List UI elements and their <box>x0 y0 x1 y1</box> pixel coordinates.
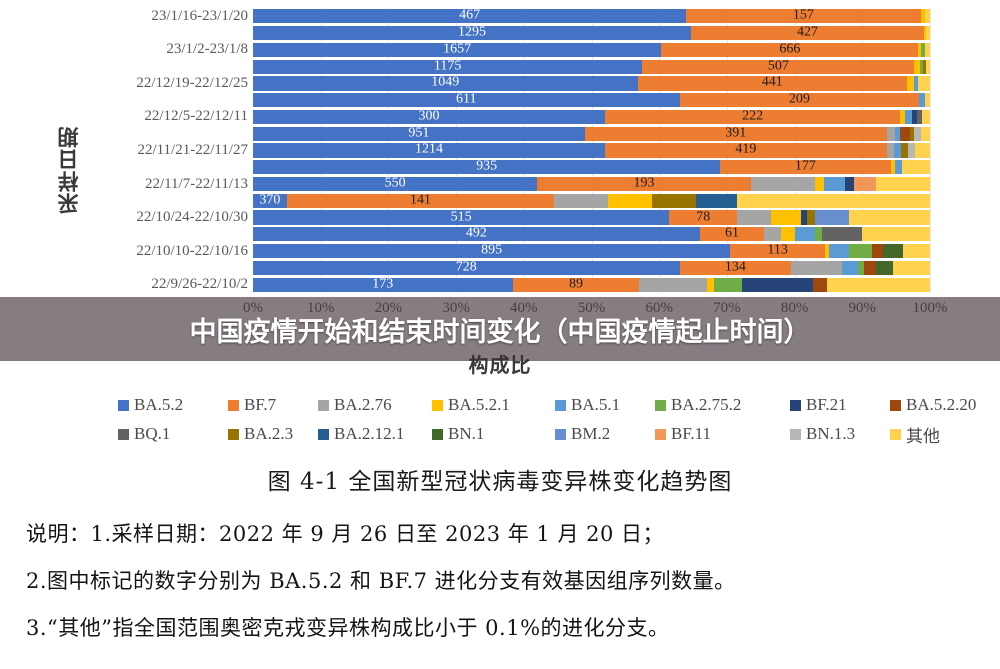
bar-segment-BF-7: 193 <box>537 177 750 191</box>
bar-segment-BA-5-2-1 <box>707 278 714 292</box>
bar-segment-BF-7: 177 <box>720 160 891 174</box>
stacked-bar-row: 370141 <box>253 194 930 208</box>
legend-swatch-icon <box>890 429 901 440</box>
bar-segment-BA-2-76 <box>887 127 896 141</box>
legend-item-BM-2[interactable]: BM.2 <box>555 421 610 447</box>
bar-segment-BA-5-2-20 <box>900 127 911 141</box>
bar-value-label: 666 <box>779 43 800 57</box>
bar-segment-BF-7: 134 <box>680 261 792 275</box>
bar-value-label: 419 <box>735 143 756 157</box>
bar-segment-BF-7: 391 <box>585 127 887 141</box>
category-label: 22/12/5-22/12/11 <box>144 108 248 125</box>
bar-value-label: 89 <box>569 277 583 291</box>
bar-value-label: 1049 <box>431 76 459 90</box>
legend-row: BA.5.2BF.7BA.2.76BA.5.2.1BA.5.1BA.2.75.2… <box>0 392 1000 418</box>
legend-item-BA-5-2-20[interactable]: BA.5.2.20 <box>890 392 976 418</box>
bar-segment-BA-5-2: 611 <box>253 93 680 107</box>
bar-value-label: 370 <box>259 194 280 208</box>
bar-segment-BA-5-2-20 <box>864 261 876 275</box>
category-label: 23/1/2-23/1/8 <box>166 41 248 58</box>
bar-value-label: 141 <box>410 194 431 208</box>
bar-segment-BA-2-75-2 <box>815 227 822 241</box>
bar-segment-其他 <box>921 127 930 141</box>
legend-item-BA-2-76[interactable]: BA.2.76 <box>318 392 392 418</box>
bar-segment-其他 <box>926 60 930 74</box>
bar-segment-BF-7: 427 <box>691 26 924 40</box>
legend-swatch-icon <box>228 429 239 440</box>
legend-swatch-icon <box>318 400 329 411</box>
bar-segment-BA-2-76 <box>887 143 894 157</box>
bar-segment-BA-5-2: 173 <box>253 278 513 292</box>
figure-note-2: 2.图中标记的数字分别为 BA.5.2 和 BF.7 进化分支有效基因组序列数量… <box>26 565 976 595</box>
figure-note-1: 说明：1.采样日期：2022 年 9 月 26 日至 2023 年 1 月 20… <box>26 518 976 548</box>
bar-segment-BA-2-76 <box>737 210 771 224</box>
legend-label: BN.1.3 <box>806 424 855 444</box>
bar-segment-BA-5-1 <box>829 244 849 258</box>
bar-value-label: 134 <box>725 261 746 275</box>
figure-caption: 图 4-1 全国新型冠状病毒变异株变化趋势图 <box>0 462 1000 496</box>
legend-label: BF.21 <box>806 395 847 415</box>
legend-swatch-icon <box>432 400 443 411</box>
legend-item-BA-5-1[interactable]: BA.5.1 <box>555 392 620 418</box>
bar-segment-BA-2-76 <box>554 194 608 208</box>
bar-segment-BA-5-1 <box>842 261 858 275</box>
bar-segment-BA-2-3 <box>807 210 815 224</box>
category-label: 22/12/19-22/12/25 <box>136 75 248 92</box>
plot-area: 4671571295427165766611755071049441611209… <box>253 8 930 293</box>
legend-label: BA.2.76 <box>334 395 392 415</box>
bar-segment-BA-2-76 <box>791 261 842 275</box>
stacked-bar-row: 51578 <box>253 210 930 224</box>
bar-segment-其他 <box>737 194 930 208</box>
legend-label: BQ.1 <box>134 424 170 444</box>
bar-segment-BA-5-2: 1175 <box>253 60 642 74</box>
legend-item-BA-2-75-2[interactable]: BA.2.75.2 <box>655 392 741 418</box>
bar-segment-其他 <box>876 177 929 191</box>
bar-segment-其他 <box>925 9 930 23</box>
category-label: 22/10/10-22/10/16 <box>136 243 248 260</box>
stacked-bar-row: 611209 <box>253 93 930 107</box>
bar-value-label: 427 <box>797 26 818 40</box>
legend-swatch-icon <box>890 400 901 411</box>
bar-segment-BA-5-2: 895 <box>253 244 730 258</box>
bar-value-label: 1214 <box>415 143 443 157</box>
legend-row: BQ.1BA.2.3BA.2.12.1BN.1BM.2BF.11BN.1.3其他 <box>0 421 1000 447</box>
bar-value-label: 550 <box>385 177 406 191</box>
bar-segment-BA-5-2-1 <box>907 76 914 90</box>
bar-segment-BA-2-75-2 <box>849 244 872 258</box>
bar-segment-BA-2-76 <box>764 227 781 241</box>
bar-segment-BA-5-1 <box>895 160 902 174</box>
legend-label: BF.11 <box>671 424 711 444</box>
bar-value-label: 209 <box>789 93 810 107</box>
stacked-bar-row: 1657666 <box>253 43 930 57</box>
category-label: 22/11/7-22/11/13 <box>145 176 248 193</box>
bar-segment-BF-21 <box>742 278 813 292</box>
bar-segment-BA-5-2-20 <box>872 244 882 258</box>
bar-value-label: 1295 <box>458 26 486 40</box>
chart-legend: BA.5.2BF.7BA.2.76BA.5.2.1BA.5.1BA.2.75.2… <box>0 392 1000 450</box>
bar-value-label: 467 <box>459 9 480 23</box>
bar-segment-BF-7: 419 <box>605 143 887 157</box>
category-label: 22/10/24-22/10/30 <box>136 209 248 226</box>
bar-segment-BF-7: 441 <box>638 76 907 90</box>
bar-value-label: 222 <box>742 110 763 124</box>
bar-segment-BA-5-2: 1657 <box>253 43 661 57</box>
bar-segment-BA-2-75-2 <box>714 278 742 292</box>
bar-segment-其他 <box>849 210 930 224</box>
bar-segment-BA-5-2: 935 <box>253 160 720 174</box>
bar-segment-BF-7: 222 <box>605 110 900 124</box>
legend-swatch-icon <box>555 400 566 411</box>
legend-item-BA-2-3[interactable]: BA.2.3 <box>228 421 293 447</box>
bar-segment-BA-5-2: 370 <box>253 194 287 208</box>
bar-segment-BF-7: 666 <box>661 43 918 57</box>
bar-segment-BA-5-1 <box>824 177 844 191</box>
bar-value-label: 1175 <box>434 59 461 73</box>
legend-item-BF-11[interactable]: BF.11 <box>655 421 711 447</box>
bar-value-label: 507 <box>768 59 789 73</box>
legend-label: BA.5.2.1 <box>448 395 510 415</box>
bar-value-label: 728 <box>456 261 477 275</box>
legend-swatch-icon <box>432 429 443 440</box>
stacked-bar-row: 17389 <box>253 278 930 292</box>
stacked-bar-row: 1175507 <box>253 60 930 74</box>
bar-segment-BA-5-2: 492 <box>253 227 700 241</box>
bar-segment-BF-7: 89 <box>513 278 640 292</box>
legend-item-BF-21[interactable]: BF.21 <box>790 392 847 418</box>
stacked-bar-row: 467157 <box>253 9 930 23</box>
bar-segment-BF-7: 61 <box>700 227 764 241</box>
bar-segment-BA-5-2: 728 <box>253 261 680 275</box>
bar-segment-BN-1-3 <box>914 127 921 141</box>
legend-label: BA.2.75.2 <box>671 395 741 415</box>
legend-item-其他[interactable]: 其他 <box>890 421 940 447</box>
legend-item-BQ-1[interactable]: BQ.1 <box>118 421 170 447</box>
bar-segment-BQ-1 <box>822 227 863 241</box>
bar-segment-BA-5-2: 1214 <box>253 143 605 157</box>
bar-segment-BF-7: 507 <box>642 60 914 74</box>
legend-label: BA.2.3 <box>244 424 293 444</box>
legend-label: BN.1 <box>448 424 484 444</box>
bar-segment-BA-2-3 <box>901 143 908 157</box>
category-label: 22/11/21-22/11/27 <box>137 142 248 159</box>
bar-segment-其他 <box>827 278 930 292</box>
bar-value-label: 173 <box>372 277 393 291</box>
bar-segment-BN-1-3 <box>908 143 915 157</box>
bar-value-label: 78 <box>696 210 710 224</box>
bar-segment-其他 <box>918 76 930 90</box>
bar-segment-BA-2-75-2 <box>858 261 865 275</box>
stacked-bar-row: 1214419 <box>253 143 930 157</box>
bar-segment-BA-2-76 <box>751 177 815 191</box>
bar-segment-其他 <box>926 26 930 40</box>
legend-label: BA.5.2 <box>134 395 183 415</box>
bar-segment-BA-5-2-20 <box>813 278 827 292</box>
figure-note-3: 3.“其他”指全国范围奥密克戎变异株构成比小于 0.1%的进化分支。 <box>26 612 976 642</box>
legend-swatch-icon <box>228 400 239 411</box>
bar-value-label: 441 <box>762 76 783 90</box>
bar-segment-BF-7: 141 <box>287 194 554 208</box>
legend-swatch-icon <box>790 400 801 411</box>
legend-item-BA-5-2[interactable]: BA.5.2 <box>118 392 183 418</box>
bar-value-label: 300 <box>419 110 440 124</box>
bar-segment-BM-2 <box>815 210 849 224</box>
bar-segment-其他 <box>925 43 930 57</box>
bar-segment-其他 <box>925 93 930 107</box>
stacked-bar-row: 935177 <box>253 160 930 174</box>
bar-value-label: 951 <box>408 126 429 140</box>
legend-swatch-icon <box>118 400 129 411</box>
stacked-bar-row: 49261 <box>253 227 930 241</box>
bar-segment-BA-5-2: 951 <box>253 127 585 141</box>
stacked-bar-row: 550193 <box>253 177 930 191</box>
legend-swatch-icon <box>790 429 801 440</box>
bar-value-label: 935 <box>476 160 497 174</box>
bar-value-label: 611 <box>456 93 476 107</box>
bar-segment-其他 <box>903 244 930 258</box>
legend-item-BF-7[interactable]: BF.7 <box>228 392 276 418</box>
legend-swatch-icon <box>318 429 329 440</box>
bar-value-label: 61 <box>725 227 739 241</box>
bar-segment-其他 <box>862 227 930 241</box>
bar-segment-BA-5-1 <box>795 227 815 241</box>
bar-value-label: 515 <box>451 210 472 224</box>
bar-segment-其他 <box>922 110 930 124</box>
bar-segment-BA-2-3 <box>652 194 696 208</box>
bar-value-label: 193 <box>633 177 654 191</box>
bar-value-label: 177 <box>795 160 816 174</box>
bar-segment-BA-5-2-1 <box>815 177 824 191</box>
bar-segment-BA-5-2-1 <box>781 227 795 241</box>
bar-segment-BN-1 <box>883 244 903 258</box>
bar-segment-BF-11 <box>854 177 876 191</box>
bar-value-label: 391 <box>725 126 746 140</box>
bar-segment-其他 <box>893 261 930 275</box>
category-axis-labels: 23/1/16-23/1/2023/1/2-23/1/822/12/19-22/… <box>88 8 248 293</box>
bar-segment-BF-21 <box>845 177 854 191</box>
legend-item-BN-1-3[interactable]: BN.1.3 <box>790 421 855 447</box>
bar-segment-BA-5-2: 515 <box>253 210 669 224</box>
legend-swatch-icon <box>555 429 566 440</box>
legend-item-BN-1[interactable]: BN.1 <box>432 421 484 447</box>
bar-segment-BA-5-2: 1049 <box>253 76 638 90</box>
bar-segment-BN-1 <box>876 261 893 275</box>
stacked-bar-row: 895113 <box>253 244 930 258</box>
bar-segment-BA-5-1 <box>894 143 901 157</box>
stacked-bar-row: 728134 <box>253 261 930 275</box>
page-root: 采样日期 23/1/16-23/1/2023/1/2-23/1/822/12/1… <box>0 0 1000 669</box>
bar-segment-其他 <box>902 160 930 174</box>
category-label: 23/1/16-23/1/20 <box>151 8 248 25</box>
bar-value-label: 157 <box>793 9 814 23</box>
legend-item-BA-2-12-1[interactable]: BA.2.12.1 <box>318 421 404 447</box>
bar-segment-BA-5-1 <box>905 110 912 124</box>
y-axis-title: 采样日期 <box>52 80 86 260</box>
stacked-bar-row: 951391 <box>253 127 930 141</box>
bar-segment-BA-5-2-1 <box>771 210 801 224</box>
legend-item-BA-5-2-1[interactable]: BA.5.2.1 <box>432 392 510 418</box>
bar-segment-BA-5-2: 550 <box>253 177 537 191</box>
legend-label: BF.7 <box>244 395 276 415</box>
legend-swatch-icon <box>655 400 666 411</box>
bar-segment-BA-5-2: 467 <box>253 9 686 23</box>
legend-label: BA.5.1 <box>571 395 620 415</box>
bar-segment-BF-7: 113 <box>730 244 825 258</box>
stacked-bar-row: 300222 <box>253 110 930 124</box>
bar-value-label: 492 <box>466 227 487 241</box>
bar-segment-BF-7: 209 <box>680 93 920 107</box>
bar-value-label: 113 <box>767 244 787 258</box>
bar-value-label: 1657 <box>443 43 471 57</box>
bar-segment-BA-2-76 <box>639 278 707 292</box>
legend-label: BA.5.2.20 <box>906 395 976 415</box>
bar-segment-BF-7: 78 <box>669 210 737 224</box>
bar-value-label: 895 <box>481 244 502 258</box>
stacked-bar-row: 1295427 <box>253 26 930 40</box>
category-label: 22/9/26-22/10/2 <box>151 276 248 293</box>
legend-swatch-icon <box>655 429 666 440</box>
overlay-banner: 中国疫情开始和结束时间变化（中国疫情起止时间） <box>0 297 1000 361</box>
legend-label: BA.2.12.1 <box>334 424 404 444</box>
stacked-bar-row: 1049441 <box>253 76 930 90</box>
bar-segment-BA-5-2-1 <box>608 194 652 208</box>
legend-label: BM.2 <box>571 424 610 444</box>
grid-line <box>930 8 931 293</box>
bar-segment-其他 <box>915 143 930 157</box>
legend-label: 其他 <box>906 422 940 447</box>
overlay-title-text: 中国疫情开始和结束时间变化（中国疫情起止时间） <box>190 310 811 349</box>
bar-segment-BF-7: 157 <box>686 9 920 23</box>
bar-segment-BA-2-12-1 <box>696 194 737 208</box>
legend-swatch-icon <box>118 429 129 440</box>
bar-segment-BA-5-2: 300 <box>253 110 605 124</box>
bar-segment-BA-5-2: 1295 <box>253 26 691 40</box>
